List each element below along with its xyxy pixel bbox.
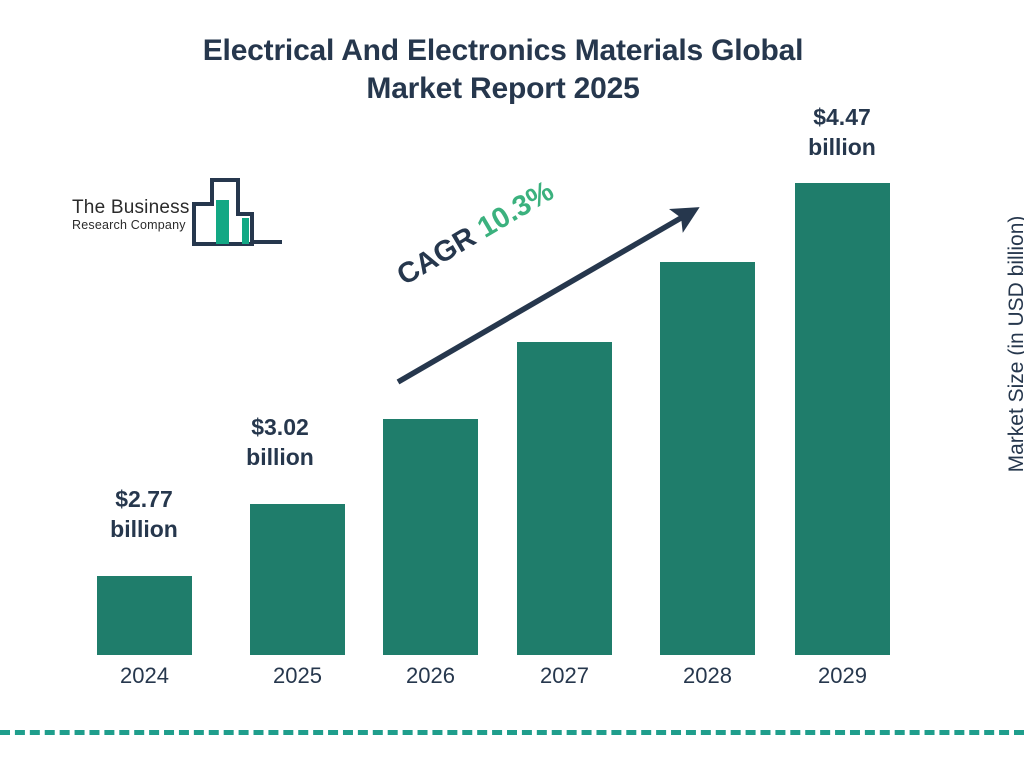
bar-2024[interactable] (97, 576, 192, 655)
bar-2026[interactable] (383, 419, 478, 655)
bar-value-2025-unit: billion (210, 442, 350, 472)
bar-value-2025: $3.02 billion (210, 412, 350, 473)
bar-2025[interactable] (250, 504, 345, 655)
bar-value-2024-amount: $2.77 (74, 484, 214, 514)
bar-value-2024: $2.77 billion (74, 484, 214, 545)
bar-value-2025-amount: $3.02 (210, 412, 350, 442)
footer-divider (0, 730, 1024, 735)
cagr-growth-arrow-icon (380, 190, 720, 400)
chart-canvas: Electrical And Electronics Materials Glo… (0, 0, 1024, 768)
x-tick-2028: 2028 (660, 663, 755, 689)
x-tick-2029: 2029 (795, 663, 890, 689)
x-tick-2025: 2025 (250, 663, 345, 689)
bar-value-2029-unit: billion (772, 132, 912, 162)
bar-value-2024-unit: billion (74, 514, 214, 544)
x-tick-2026: 2026 (383, 663, 478, 689)
x-tick-2027: 2027 (517, 663, 612, 689)
y-axis-label: Market Size (in USD billion) (1005, 184, 1024, 504)
bar-value-2029-amount: $4.47 (772, 102, 912, 132)
bar-2029[interactable] (795, 183, 890, 655)
x-tick-2024: 2024 (97, 663, 192, 689)
bar-value-2029: $4.47 billion (772, 102, 912, 163)
